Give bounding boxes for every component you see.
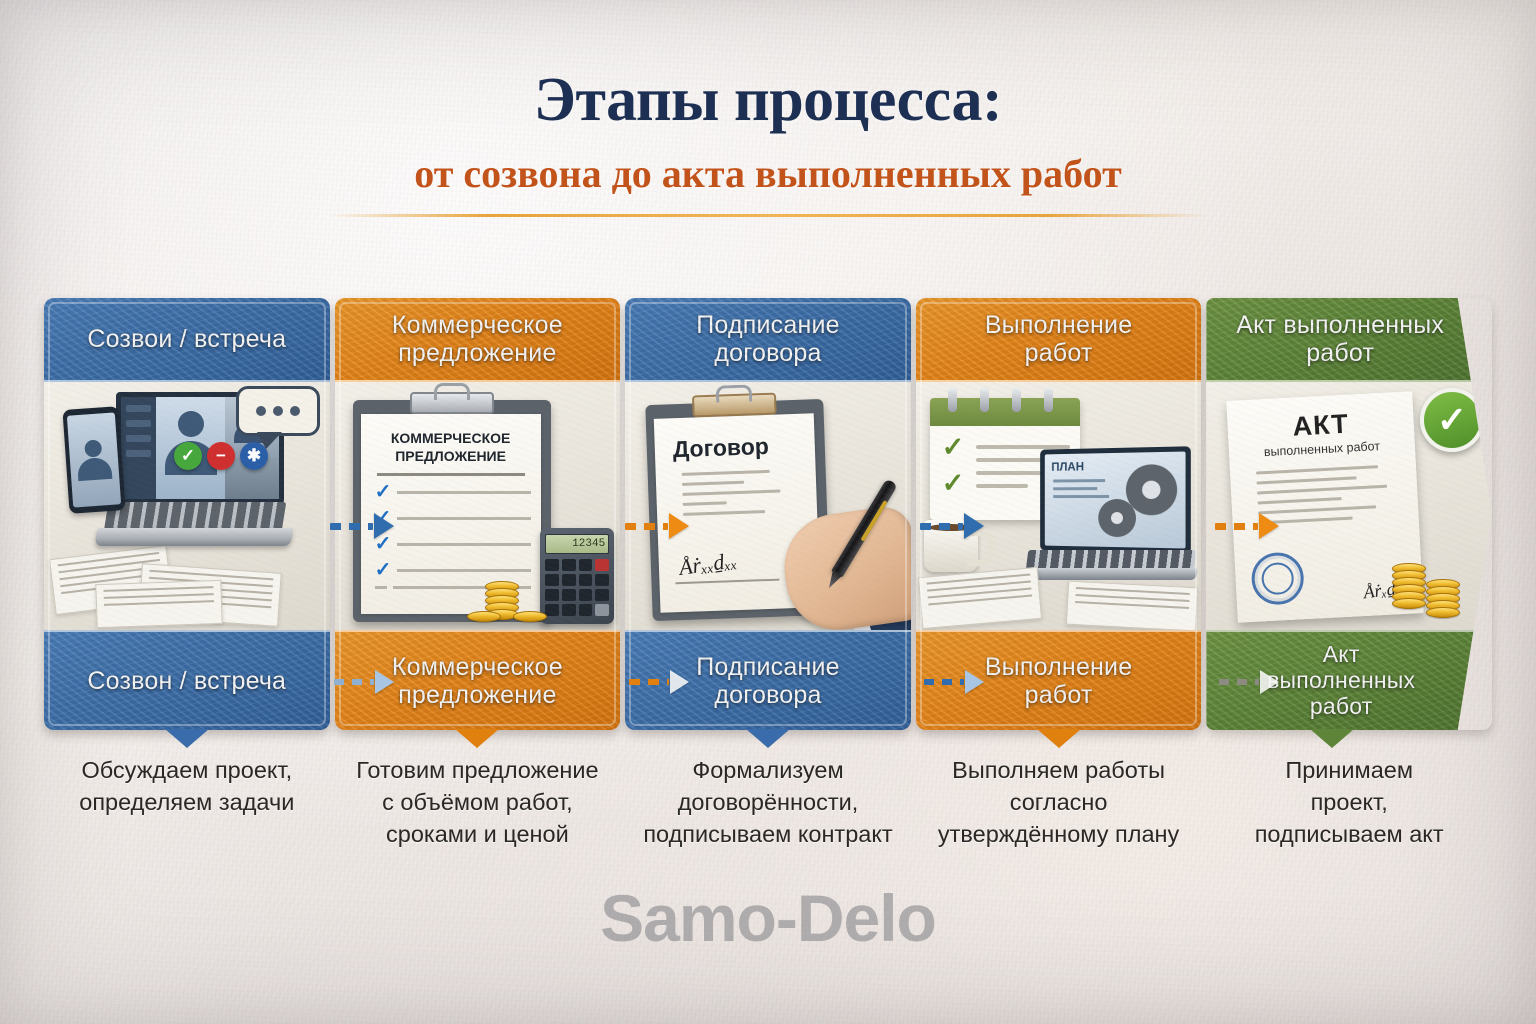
step-3-top-label: Подписание договора: [625, 298, 911, 382]
page-title: Этапы процесса:: [0, 68, 1536, 133]
gear-icon: [1104, 505, 1130, 531]
step-3-illustration: Договор Åṙₓₓḏₓₓ: [625, 382, 911, 630]
checkmark-icon: ✓: [375, 482, 392, 502]
card-3-tail: [746, 729, 790, 748]
smartphone-icon: [62, 406, 125, 514]
step-1-caption: Обсуждаем проект, определяем задачи: [44, 755, 330, 851]
gold-coins-icon: [1386, 558, 1482, 620]
laptop-base-icon: [95, 528, 294, 546]
step-2-top-label: Коммерческое предложение: [335, 298, 621, 382]
calculator-display: 12345: [545, 534, 609, 554]
step-5-illustration: АКТ выполненных работ Åṙₓḏₓ: [1206, 382, 1492, 630]
green-check-badge-icon: ✓: [1420, 388, 1484, 452]
step-card-5[interactable]: Акт выполненных работ АКТ выполненных ра…: [1206, 298, 1492, 730]
step-4-caption: Выполняем работы согласно утверждённому …: [916, 755, 1202, 851]
step-5-caption: Принимаем проект, подписываем акт: [1206, 755, 1492, 851]
gear-icon: [1132, 470, 1171, 509]
laptop-icon: ПЛАН: [1021, 448, 1197, 588]
arrow-right-icon: [375, 670, 394, 694]
blue-round-stamp-icon: [1251, 551, 1306, 606]
card-1-tail: [165, 729, 209, 748]
step-2-caption: Готовим предложение с объёмом работ, сро…: [335, 755, 621, 851]
checkmark-icon: ✓: [375, 560, 392, 580]
infographic-root: Этапы процесса: от созвона до акта выпол…: [0, 0, 1536, 1024]
step-1-illustration: ✓ − ✱: [44, 382, 330, 630]
step-1-bottom-label: Созвон / встреча: [44, 630, 330, 730]
connector-bottom-3-4: [924, 672, 984, 692]
decline-call-button[interactable]: −: [207, 442, 235, 470]
person-avatar-icon: [178, 411, 204, 437]
arrow-right-icon: [965, 670, 984, 694]
person-avatar-icon: [84, 439, 102, 457]
arrow-right-icon: [669, 513, 689, 539]
connector-3-4: [920, 515, 984, 537]
connector-bottom-1-2: [334, 672, 394, 692]
step-3-caption: Формализуем договорённости, подписываем …: [625, 755, 911, 851]
step-4-illustration: ✓ ✓ ПЛАН: [916, 382, 1202, 630]
arrow-right-icon: [964, 513, 984, 539]
offer-doc-title-line2: ПРЕДЛОЖЕНИЕ: [371, 448, 531, 464]
person-body-icon: [77, 457, 112, 481]
step-1-top-label: Созвои / встреча: [44, 298, 330, 382]
card-4-tail: [1037, 729, 1081, 748]
connector-4-5: [1215, 515, 1279, 537]
step-card-1[interactable]: Созвои / встреча: [44, 298, 330, 730]
connector-bottom-4-5: [1219, 672, 1279, 692]
step-card-4[interactable]: Выполнение работ ✓ ✓: [916, 298, 1202, 730]
speech-bubble-icon: [236, 386, 320, 436]
page-subtitle: от созвона до акта выполненных работ: [0, 150, 1536, 197]
arrow-right-icon: [374, 513, 394, 539]
checkmark-icon: ✓: [942, 470, 965, 497]
step-5-top-label: Акт выполненных работ: [1206, 298, 1492, 382]
call-options-button[interactable]: ✱: [240, 442, 268, 470]
title-divider: [328, 214, 1208, 217]
clipboard-clamp-icon: [692, 393, 777, 418]
arrow-right-icon: [670, 670, 689, 694]
gold-coins-icon: [467, 576, 557, 624]
connector-bottom-2-3: [629, 672, 689, 692]
step-2-illustration: КОММЕРЧЕСКОЕ ПРЕДЛОЖЕНИЕ ✓ ✓ ✓ ✓: [335, 382, 621, 630]
step-captions-row: Обсуждаем проект, определяем задачи Гото…: [44, 755, 1492, 851]
contract-doc-title: Договор: [673, 432, 804, 464]
paper-sheet-icon: [918, 567, 1042, 629]
contract-text-lines: [668, 469, 805, 517]
signature-icon: Åṙₓₓḏₓₓ: [678, 547, 739, 581]
arrow-right-icon: [1260, 670, 1279, 694]
card-5-tail: [1310, 729, 1354, 748]
header: Этапы процесса: от созвона до акта выпол…: [0, 0, 1536, 217]
paper-sheet-icon: [95, 580, 222, 628]
accept-call-button[interactable]: ✓: [174, 442, 202, 470]
connector-2-3: [625, 515, 689, 537]
clipboard-clamp-icon: [410, 392, 494, 414]
connector-1-2: [330, 515, 394, 537]
offer-doc-title-line1: КОММЕРЧЕСКОЕ: [371, 430, 531, 446]
card-2-tail: [455, 729, 499, 748]
paper-sheet-icon: [1066, 581, 1198, 630]
arrow-right-icon: [1259, 513, 1279, 539]
step-4-top-label: Выполнение работ: [916, 298, 1202, 382]
watermark: Samo-Delo: [0, 880, 1536, 956]
laptop-screen-title: ПЛАН: [1052, 458, 1186, 474]
checkmark-icon: ✓: [942, 434, 965, 461]
video-sidebar: [121, 397, 156, 499]
